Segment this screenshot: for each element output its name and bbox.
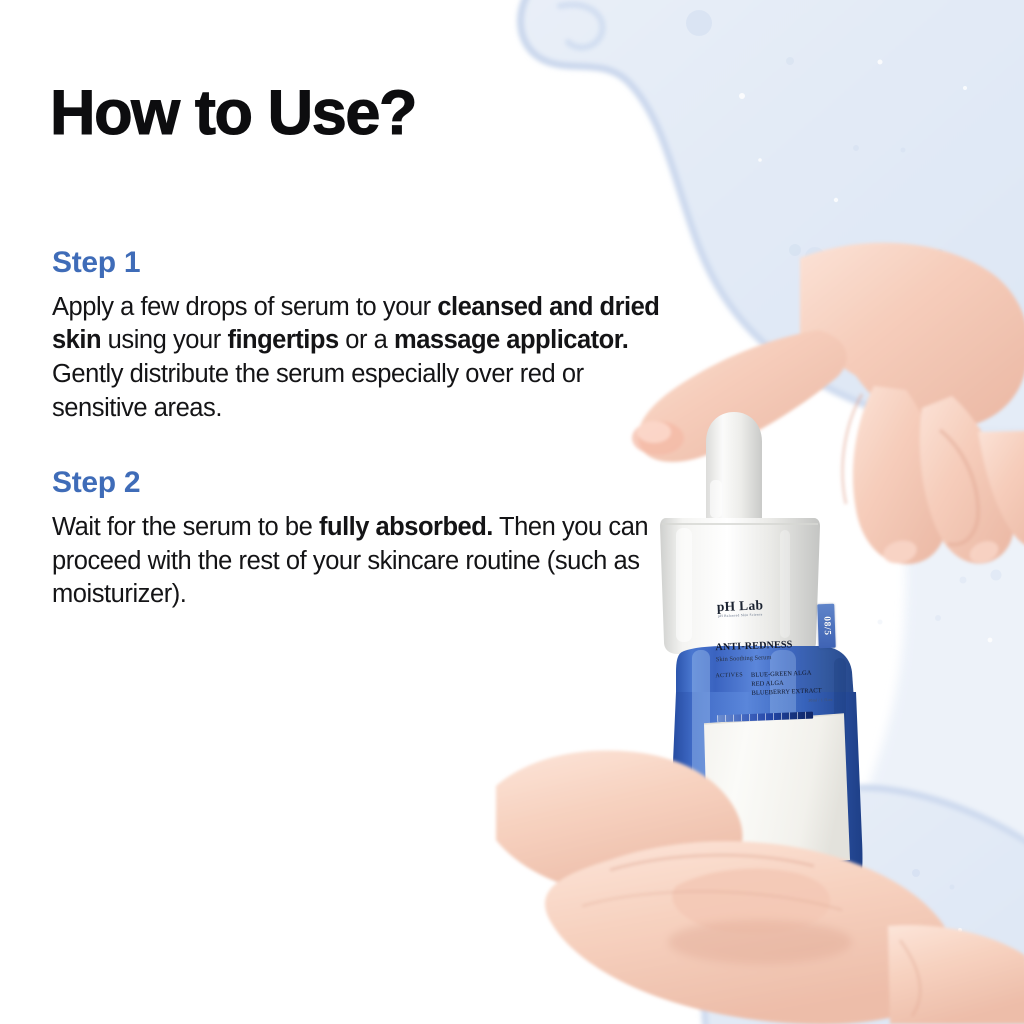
step-1-run-2: using your	[101, 326, 227, 354]
product-illustration	[470, 180, 1024, 1024]
marketing-slide: How to Use? Step 1 Apply a few drops of …	[0, 0, 1024, 1024]
ph-badge: 08/5	[817, 604, 836, 649]
dropper-cap	[660, 518, 820, 654]
ph-badge-value: 08/5	[821, 616, 832, 636]
page-title: How to Use?	[50, 80, 416, 146]
gel-swirl	[560, 5, 603, 48]
dropper-cap-highlight-left	[676, 528, 692, 642]
step-1-run-3: fingertips	[227, 326, 338, 354]
hand-top-fingertip-highlight	[637, 421, 671, 443]
dropper-bulb-highlight	[710, 480, 722, 518]
step-2-run-1: fully absorbed.	[319, 513, 493, 541]
step-2-run-0: Wait for the serum to be	[52, 513, 319, 541]
step-1-run-0: Apply a few drops of serum to your	[52, 293, 437, 321]
step-1-run-4: or a	[339, 326, 394, 354]
product-photo: pH Lab pH Balanced Skin Science ANTI-RED…	[470, 180, 1024, 1024]
dropper-cap-highlight-right	[780, 530, 790, 638]
dropper-bulb	[706, 412, 762, 518]
